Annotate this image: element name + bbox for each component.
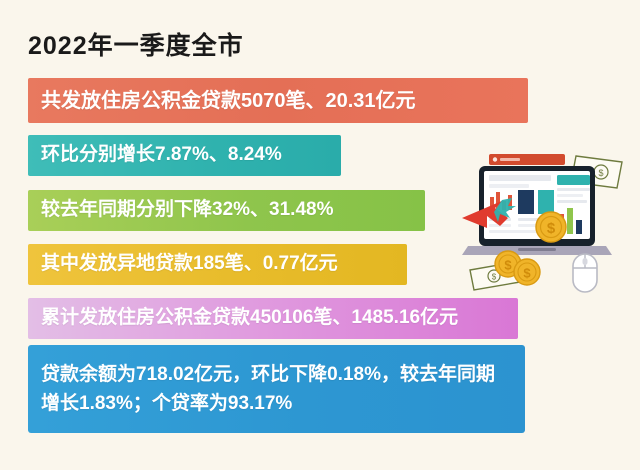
svg-text:$: $ [547, 220, 556, 237]
coin-icon: $ [514, 259, 540, 285]
laptop-icon [462, 154, 612, 255]
statement-bar-year-on-year-decline: 较去年同期分别下降32%、31.48% [28, 190, 425, 231]
statement-text: 贷款余额为718.02亿元，环比下降0.18%，较去年同期增长1.83%；个贷率… [41, 360, 512, 419]
svg-text:$: $ [504, 258, 512, 273]
statement-bar-non-local-loans: 其中发放异地贷款185笔、0.77亿元 [28, 244, 407, 285]
statement-text: 环比分别增长7.87%、8.24% [41, 143, 282, 168]
statement-bar-cumulative-loans: 累计发放住房公积金贷款450106笔、1485.16亿元 [28, 298, 518, 339]
infographic-poster: 2022年一季度全市 共发放住房公积金贷款5070笔、20.31亿元 环比分别增… [0, 0, 640, 470]
page-title: 2022年一季度全市 [28, 26, 244, 62]
laptop-finance-illustration: $ [456, 142, 636, 297]
coin-icon: $ [536, 212, 566, 242]
svg-text:$: $ [598, 168, 603, 178]
statement-bar-loan-balance: 贷款余额为718.02亿元，环比下降0.18%，较去年同期增长1.83%；个贷率… [28, 345, 525, 433]
statement-text: 较去年同期分别下降32%、31.48% [41, 198, 333, 223]
statement-text: 其中发放异地贷款185笔、0.77亿元 [41, 252, 338, 277]
svg-text:$: $ [492, 273, 497, 282]
statement-text: 累计发放住房公积金贷款450106笔、1485.16亿元 [41, 306, 458, 331]
computer-mouse-icon [573, 254, 597, 292]
statement-bar-loans-issued: 共发放住房公积金贷款5070笔、20.31亿元 [28, 78, 528, 123]
statement-bar-month-on-month-growth: 环比分别增长7.87%、8.24% [28, 135, 341, 176]
statement-text: 共发放住房公积金贷款5070笔、20.31亿元 [41, 88, 416, 114]
svg-text:$: $ [523, 266, 531, 281]
